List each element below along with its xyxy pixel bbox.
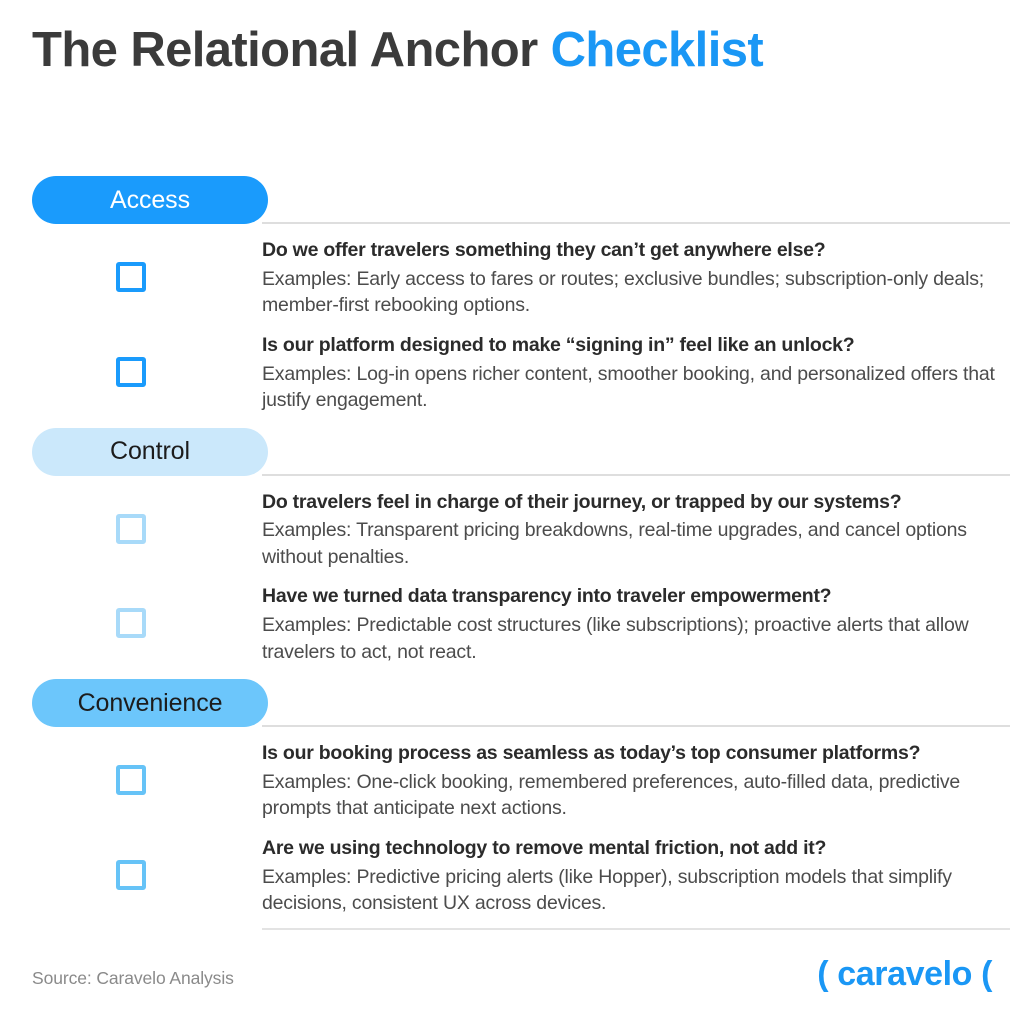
checkbox-icon[interactable]	[116, 608, 146, 638]
checklist-item: Do we offer travelers something they can…	[0, 238, 1024, 333]
checklist-section: ControlDo travelers feel in charge of th…	[0, 428, 1024, 680]
item-text-block: Do travelers feel in charge of their jou…	[262, 490, 1024, 571]
checklist-item: Is our booking process as seamless as to…	[0, 741, 1024, 836]
page-title-main: The Relational Anchor	[32, 23, 551, 77]
item-text-block: Is our platform designed to make “signin…	[262, 333, 1024, 414]
caravelo-logo: ( caravelo (	[817, 955, 992, 994]
checklist-item: Is our platform designed to make “signin…	[0, 333, 1024, 428]
section-divider	[262, 725, 1010, 727]
checkbox-icon[interactable]	[116, 262, 146, 292]
item-question: Is our platform designed to make “signin…	[262, 333, 1010, 359]
item-examples: Examples: Predictive pricing alerts (lik…	[262, 864, 1010, 917]
checklist-item: Have we turned data transparency into tr…	[0, 584, 1024, 679]
item-question: Have we turned data transparency into tr…	[262, 584, 1010, 610]
item-examples: Examples: Log-in opens richer content, s…	[262, 361, 1010, 414]
section-header: Access	[0, 176, 1024, 224]
section-items: Do travelers feel in charge of their jou…	[0, 476, 1024, 680]
item-examples: Examples: One-click booking, remembered …	[262, 769, 1010, 822]
item-question: Do we offer travelers something they can…	[262, 238, 1010, 264]
item-examples: Examples: Predictable cost structures (l…	[262, 612, 1010, 665]
checkbox-icon[interactable]	[116, 765, 146, 795]
section-items: Is our booking process as seamless as to…	[0, 727, 1024, 931]
checkbox-icon[interactable]	[116, 860, 146, 890]
item-examples: Examples: Early access to fares or route…	[262, 266, 1010, 319]
source-label: Source: Caravelo Analysis	[32, 968, 234, 989]
page-title: The Relational Anchor Checklist	[32, 22, 763, 78]
section-pill-control[interactable]: Control	[32, 428, 268, 476]
checklist-sections: AccessDo we offer travelers something th…	[0, 176, 1024, 931]
item-text-block: Are we using technology to remove mental…	[262, 836, 1024, 917]
checklist-infographic: The Relational Anchor Checklist AccessDo…	[0, 0, 1024, 1024]
checklist-item: Are we using technology to remove mental…	[0, 836, 1024, 931]
checkbox-cell	[0, 741, 262, 795]
checklist-item: Do travelers feel in charge of their jou…	[0, 490, 1024, 585]
item-text-block: Is our booking process as seamless as to…	[262, 741, 1024, 822]
checkbox-icon[interactable]	[116, 357, 146, 387]
section-divider	[262, 222, 1010, 224]
item-text-block: Do we offer travelers something they can…	[262, 238, 1024, 319]
section-pill-access[interactable]: Access	[32, 176, 268, 224]
item-question: Is our booking process as seamless as to…	[262, 741, 1010, 767]
checkbox-cell	[0, 238, 262, 292]
section-pill-convenience[interactable]: Convenience	[32, 679, 268, 727]
checkbox-cell	[0, 836, 262, 890]
checklist-section: AccessDo we offer travelers something th…	[0, 176, 1024, 428]
checkbox-cell	[0, 584, 262, 638]
checklist-section: ConvenienceIs our booking process as sea…	[0, 679, 1024, 931]
item-question: Are we using technology to remove mental…	[262, 836, 1010, 862]
checkbox-cell	[0, 333, 262, 387]
item-examples: Examples: Transparent pricing breakdowns…	[262, 517, 1010, 570]
page-title-accent: Checklist	[551, 23, 763, 77]
footer-divider	[262, 928, 1010, 930]
item-text-block: Have we turned data transparency into tr…	[262, 584, 1024, 665]
item-question: Do travelers feel in charge of their jou…	[262, 490, 1010, 516]
checkbox-cell	[0, 490, 262, 544]
section-items: Do we offer travelers something they can…	[0, 224, 1024, 428]
section-header: Convenience	[0, 679, 1024, 727]
checkbox-icon[interactable]	[116, 514, 146, 544]
section-divider	[262, 474, 1010, 476]
section-header: Control	[0, 428, 1024, 476]
